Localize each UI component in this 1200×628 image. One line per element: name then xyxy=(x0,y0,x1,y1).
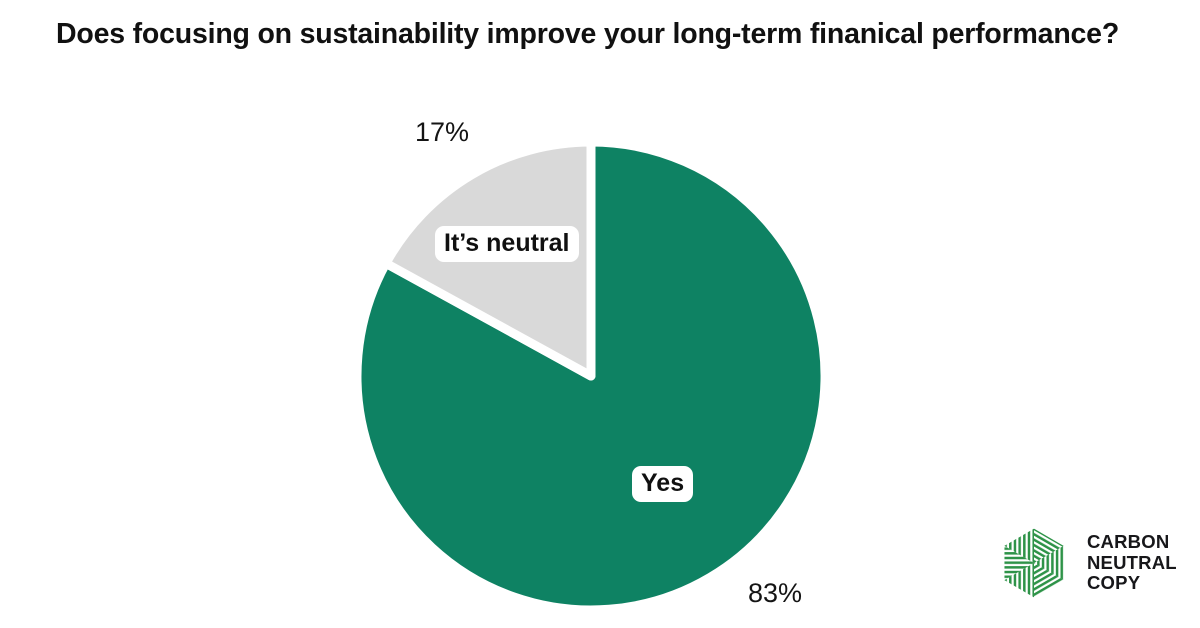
pie-slice-label-yes: Yes xyxy=(632,466,693,502)
brand-logo-line-3: COPY xyxy=(1087,573,1177,594)
pie-value-label-yes: 83% xyxy=(748,578,802,609)
brand-logo: CARBON NEUTRAL COPY xyxy=(995,524,1177,602)
pie-chart-svg xyxy=(355,140,827,612)
chart-canvas: Does focusing on sustainability improve … xyxy=(0,0,1200,628)
pie-value-label-neutral: 17% xyxy=(415,117,469,148)
brand-logo-text: CARBON NEUTRAL COPY xyxy=(1087,532,1177,594)
brand-logo-line-2: NEUTRAL xyxy=(1087,553,1177,574)
page-title: Does focusing on sustainability improve … xyxy=(56,18,1156,51)
pie-slice-label-neutral: It’s neutral xyxy=(435,226,579,262)
hexagon-pinwheel-icon xyxy=(995,524,1073,602)
brand-logo-line-1: CARBON xyxy=(1087,532,1177,553)
pie-chart xyxy=(355,140,827,612)
